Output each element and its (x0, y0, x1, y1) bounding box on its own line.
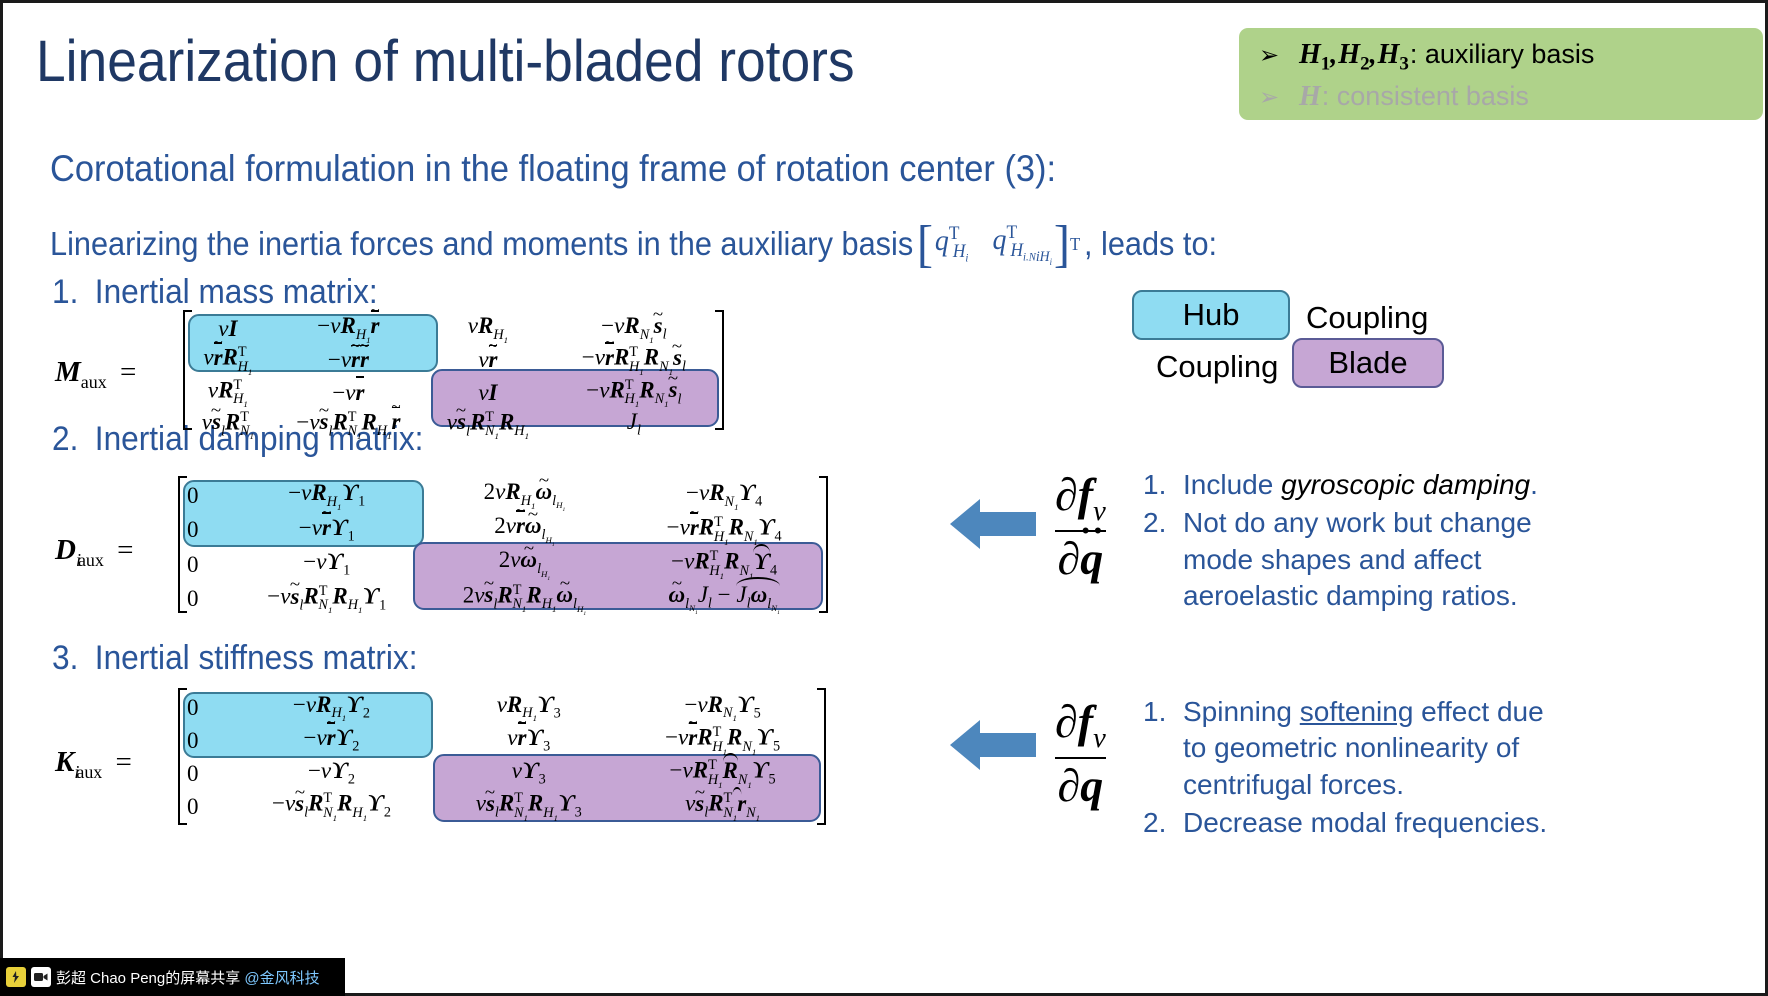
list-item-text: Not do any work but change mode shapes a… (1183, 505, 1573, 614)
cell-m-2-2: νI (429, 377, 547, 409)
cell-m-3-2: νslRTN1RH1 (429, 409, 547, 441)
legend-blade-box: Blade (1292, 338, 1444, 388)
legend-hub-box: Hub (1132, 290, 1290, 340)
cell-m-2-0: νRTH1 (188, 377, 268, 409)
cell-k-3-3: νslRTN1rN1 (623, 790, 822, 823)
list-item: 1. Include gyroscopic damping. (1143, 467, 1573, 503)
cell-m-3-3: Jl (547, 409, 721, 441)
list-marker: 1. (1143, 467, 1183, 503)
table-row: 0 −νRH1ϒ2 νRH1ϒ3 −νRN1ϒ5 (183, 691, 822, 724)
table-row: νslRTN1 −νslRTN1RH1r νslRTN1RH1 Jl (188, 409, 721, 441)
callout-row-auxiliary: ➢ H1,H2,H3: auxiliary basis (1253, 36, 1763, 78)
cell-m-2-1: −νr (268, 377, 429, 409)
presentation-slide: Linearization of multi-bladed rotors ➢ H… (0, 0, 1768, 996)
table-row: 0 −νslRTN1RH1ϒ2 νslRTN1RH1ϒ3 νslRTN1rN1 (183, 790, 822, 823)
stiffness-matrix-label: Kiaux = (55, 746, 132, 783)
table-row: 0 −νrϒ2 νrϒ3 −νrRTH1RN1ϒ5 (183, 724, 822, 757)
camera-icon[interactable] (31, 967, 51, 987)
callout-row-consistent-content: H: consistent basis (1299, 78, 1529, 117)
fraction-rule (1055, 757, 1106, 760)
cell-k-1-1: −νrϒ2 (229, 724, 435, 757)
stiffness-derivative-numerator: ∂fv (1055, 697, 1106, 755)
cell-k-1-3: −νrRTH1RN1ϒ5 (623, 724, 822, 757)
cell-k-3-1: −νslRTN1RH1ϒ2 (229, 790, 435, 823)
callout-row-auxiliary-content: H1,H2,H3: auxiliary basis (1299, 36, 1594, 78)
damping-matrix-label: Diaux = (55, 534, 134, 571)
arrow-bullet-icon: ➢ (1253, 39, 1299, 72)
damping-left-arrow-icon (950, 497, 1036, 551)
damping-derivative-formula: ∂fv ∂q (1055, 470, 1106, 584)
stiffness-derivative-formula: ∂fv ∂q (1055, 697, 1106, 811)
cell-d-3-0: 0 (183, 582, 229, 617)
emphasis-gyroscopic-damping: gyroscopic damping (1281, 469, 1530, 500)
cell-d-1-0: 0 (183, 513, 229, 547)
list-item: 2. Decrease modal frequencies. (1143, 805, 1573, 841)
damping-notes-list: 1. Include gyroscopic damping. 2. Not do… (1143, 467, 1573, 617)
cell-k-1-0: 0 (183, 724, 229, 757)
list-item: 2. Not do any work but change mode shape… (1143, 505, 1573, 614)
table-row: νrRTH1 −νrr νr −νrRTH1RN1sl (188, 344, 721, 376)
screen-share-status-bar: 彭超 Chao Peng的屏幕共享 @金风科技 (0, 958, 345, 996)
mass-matrix-label: Maux = (55, 356, 136, 393)
table-row: 0 −νϒ2 νϒ3 −νRTH1RN1ϒ5 (183, 757, 822, 790)
cell-m-0-3: −νRN1sl (547, 313, 721, 344)
stiffness-matrix-table: 0 −νRH1ϒ2 νRH1ϒ3 −νRN1ϒ5 0 −νrϒ2 νrϒ3 −ν… (183, 691, 822, 823)
table-row: 0 −νRH1ϒ1 2νRH1ωlH1 −νRN1ϒ4 (183, 479, 824, 513)
cell-d-1-1: −νrϒ1 (229, 513, 425, 547)
cell-d-2-2: 2νωlH1 (425, 547, 625, 581)
section-heading-stiffness: 3.Inertial stiffness matrix: (52, 639, 418, 678)
cell-m-0-0: νI (188, 313, 268, 344)
stiffness-derivative-denominator: ∂q (1055, 761, 1106, 811)
list-item-text: Spinning softening effect due to geometr… (1183, 694, 1573, 803)
cell-d-2-3: −νRTH1RN1ϒ4 (624, 547, 824, 581)
cell-d-0-0: 0 (183, 479, 229, 513)
cell-m-1-3: −νrRTH1RN1sl (547, 344, 721, 376)
list-item: 1. Spinning softening effect due to geom… (1143, 694, 1573, 803)
legend-coupling-bottom-left: Coupling (1156, 349, 1278, 385)
slide-title: Linearization of multi-bladed rotors (36, 32, 855, 93)
lead-in-line: Linearizing the inertia forces and momen… (50, 222, 1217, 267)
list-marker: 2. (1143, 505, 1183, 614)
cell-m-1-0: νrRTH1 (188, 344, 268, 376)
cell-k-0-3: −νRN1ϒ5 (623, 691, 822, 724)
table-row: 0 −νrϒ1 2νrωlH1 −νrRTH1RN1ϒ4 (183, 513, 824, 547)
lead-in-text-after: , leads to: (1084, 225, 1217, 263)
section-heading-mass: 1.Inertial mass matrix: (52, 273, 378, 312)
cell-m-3-0: νslRTN1 (188, 409, 268, 441)
slide-subtitle: Corotational formulation in the floating… (50, 148, 1056, 190)
lead-in-inline-math: [ qTHi qTHi.NiHi ]T (917, 222, 1080, 267)
cell-d-2-1: −νϒ1 (229, 547, 425, 581)
legend-hub-label: Hub (1183, 297, 1240, 333)
auxiliary-basis-callout: ➢ H1,H2,H3: auxiliary basis ➢ H: consist… (1239, 28, 1763, 120)
list-item-text: Decrease modal frequencies. (1183, 805, 1573, 841)
lead-in-text-before: Linearizing the inertia forces and momen… (50, 225, 913, 263)
cell-k-3-2: νslRTN1RH1ϒ3 (434, 790, 623, 823)
list-marker: 2. (1143, 805, 1183, 841)
underline-softening: softening (1300, 696, 1414, 727)
stiffness-notes-list: 1. Spinning softening effect due to geom… (1143, 694, 1573, 844)
window-frame-left (0, 0, 3, 996)
block-color-legend: Hub Coupling Coupling Blade (1120, 290, 1540, 390)
table-row: νRTH1 −νr νI −νRTH1RN1sl (188, 377, 721, 409)
cell-d-3-1: −νslRTN1RH1ϒ1 (229, 582, 425, 617)
cell-d-3-3: ωlN1Jl − JlωlN1 (624, 582, 824, 617)
cell-m-1-1: −νrr (268, 344, 429, 376)
window-frame-top (0, 0, 1768, 3)
share-owner-text: 彭超 Chao Peng的屏幕共享 @金风科技 (56, 967, 320, 988)
list-item-text: Include gyroscopic damping. (1183, 467, 1573, 503)
cell-m-1-2: νr (429, 344, 547, 376)
cell-d-3-2: 2νslRTN1RH1ωlH1 (425, 582, 625, 617)
cell-k-0-2: νRH1ϒ3 (434, 691, 623, 724)
cell-k-2-1: −νϒ2 (229, 757, 435, 790)
share-handle-text: @金风科技 (244, 970, 319, 987)
screen-share-icon[interactable] (6, 967, 26, 987)
cell-k-1-2: νrϒ3 (434, 724, 623, 757)
legend-blade-label: Blade (1328, 345, 1407, 381)
cell-d-0-3: −νRN1ϒ4 (624, 479, 824, 513)
list-marker: 1. (1143, 694, 1183, 803)
legend-coupling-top-right: Coupling (1306, 300, 1428, 336)
cell-d-1-3: −νrRTH1RN1ϒ4 (624, 513, 824, 547)
table-row: νI −νRH1r νRH1 −νRN1sl (188, 313, 721, 344)
cell-k-2-2: νϒ3 (434, 757, 623, 790)
table-row: 0 −νϒ1 2νωlH1 −νRTH1RN1ϒ4 (183, 547, 824, 581)
cell-k-0-0: 0 (183, 691, 229, 724)
cell-d-2-0: 0 (183, 547, 229, 581)
arrow-bullet-icon: ➢ (1253, 81, 1299, 114)
cell-m-0-1: −νRH1r (268, 313, 429, 344)
cell-m-2-3: −νRTH1RN1sl (547, 377, 721, 409)
table-row: 0 −νslRTN1RH1ϒ1 2νslRTN1RH1ωlH1 ωlN1Jl −… (183, 582, 824, 617)
mass-matrix-table: νI −νRH1r νRH1 −νRN1sl νrRTH1 −νrr νr −ν… (188, 313, 721, 441)
damping-matrix-table: 0 −νRH1ϒ1 2νRH1ωlH1 −νRN1ϒ4 0 −νrϒ1 2νrω… (183, 479, 824, 616)
cell-k-3-0: 0 (183, 790, 229, 823)
damping-derivative-denominator: ∂q (1055, 534, 1106, 584)
cell-m-3-1: −νslRTN1RH1r (268, 409, 429, 441)
stiffness-left-arrow-icon (950, 718, 1036, 772)
cell-k-2-3: −νRTH1RN1ϒ5 (623, 757, 822, 790)
cell-k-2-0: 0 (183, 757, 229, 790)
callout-row-consistent: ➢ H: consistent basis (1253, 78, 1763, 117)
